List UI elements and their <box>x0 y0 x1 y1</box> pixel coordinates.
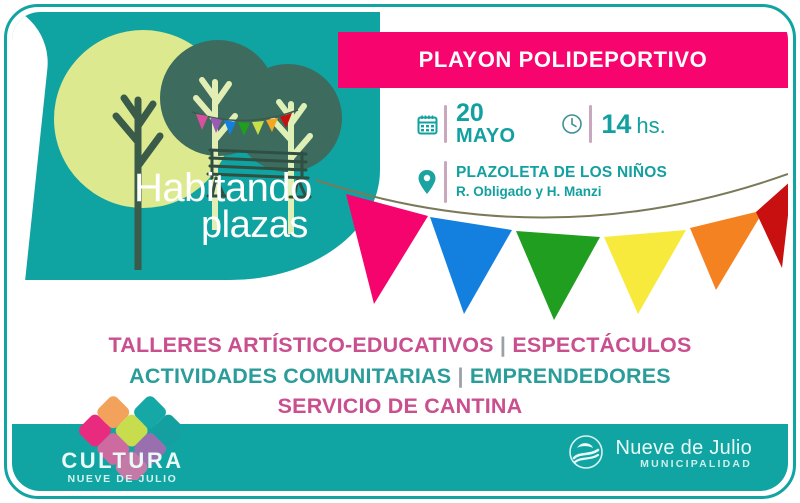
municipality-name: Nueve de Julio <box>615 438 752 459</box>
activities-line-1: TALLERES ARTÍSTICO-EDUCATIVOS | ESPECTÁC… <box>12 330 788 361</box>
bunting-flag-2 <box>430 217 512 314</box>
cultura-subtitle: NUEVE DE JULIO <box>60 473 185 485</box>
event-datetime-row: 20 MAYO 14 hs. <box>412 102 742 147</box>
event-time-unit: hs. <box>636 113 665 139</box>
activity-cantina: SERVICIO DE CANTINA <box>278 394 523 418</box>
calendar-icon <box>412 114 442 135</box>
clock-icon <box>557 113 587 135</box>
municipality-text: Nueve de Julio MUNICIPALIDAD <box>615 438 752 470</box>
activities-separator-2: | <box>457 364 463 388</box>
bunting-flag-3 <box>516 231 600 320</box>
activities-separator-1: | <box>500 333 506 357</box>
date-divider <box>444 105 447 143</box>
poster-card: Habitando plazas PLAYON POLIDEPORTIVO <box>12 12 788 491</box>
cultura-name: CULTURA <box>60 449 185 473</box>
cultura-logo: CULTURA NUEVE DE JULIO <box>60 449 185 485</box>
event-time: 14 hs. <box>601 109 665 140</box>
bunting-flag-1 <box>346 194 428 304</box>
event-month: MAYO <box>456 126 515 147</box>
banner-title-bar: PLAYON POLIDEPORTIVO <box>338 32 788 88</box>
activity-talleres: TALLERES ARTÍSTICO-EDUCATIVOS <box>108 333 493 357</box>
bunting-decoration <box>312 172 788 322</box>
poster-root: Habitando plazas PLAYON POLIDEPORTIVO <box>0 0 800 503</box>
event-time-value: 14 <box>601 109 631 140</box>
wordmark-line-1: Habitando <box>134 170 312 207</box>
brand-wordmark: Habitando plazas <box>134 170 312 243</box>
event-day-number: 20 <box>456 102 515 126</box>
activity-emprendedores: EMPRENDEDORES <box>470 364 671 388</box>
bunting-flag-4 <box>604 230 686 314</box>
mini-bunting-icon <box>190 108 300 142</box>
event-date: 20 MAYO <box>456 102 515 147</box>
activity-espectaculos: ESPECTÁCULOS <box>512 333 691 357</box>
bunting-flag-5 <box>690 210 764 290</box>
municipality-subtitle: MUNICIPALIDAD <box>615 459 752 470</box>
time-divider <box>589 105 592 143</box>
municipal-emblem-icon <box>568 434 604 475</box>
bunting-flag-6 <box>756 180 788 268</box>
wordmark-line-2: plazas <box>134 207 312 243</box>
municipality-logo: Nueve de Julio MUNICIPALIDAD <box>568 434 752 475</box>
banner-title-text: PLAYON POLIDEPORTIVO <box>419 47 708 73</box>
